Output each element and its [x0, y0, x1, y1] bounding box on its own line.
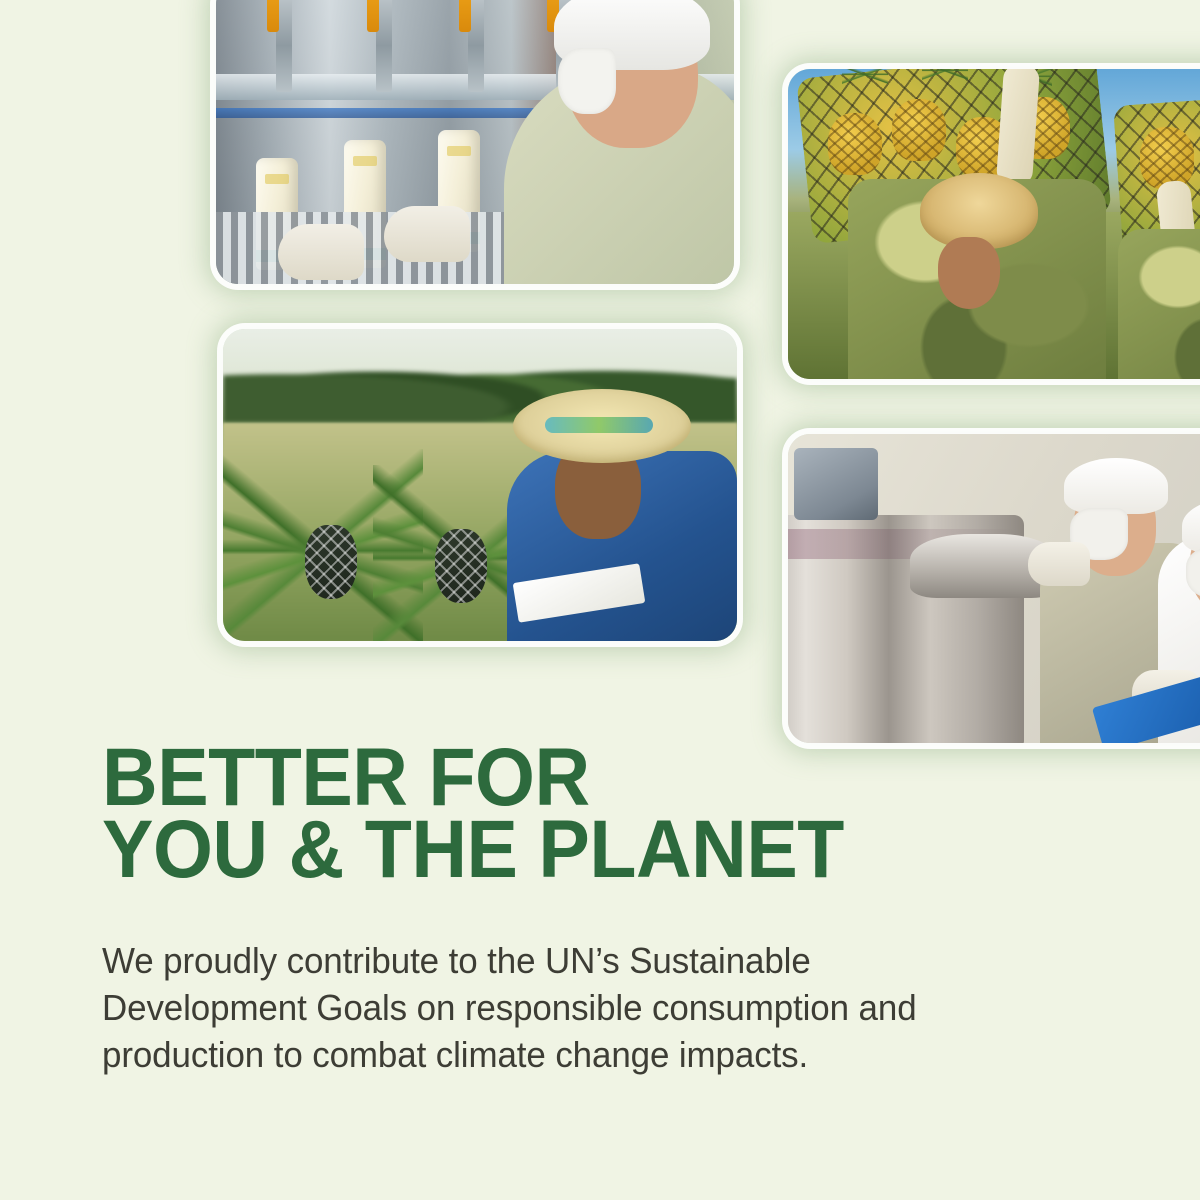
hygiene-cap: [1182, 498, 1200, 554]
worker-glove: [278, 224, 364, 280]
sustainability-banner: BETTER FOR YOU & THE PLANET We proudly c…: [0, 0, 1200, 1200]
technician-glove: [1028, 542, 1090, 586]
face-mask: [558, 48, 616, 114]
page-subcopy: We proudly contribute to the UN’s Sustai…: [102, 886, 1009, 1078]
filler-nozzle: [468, 0, 484, 92]
pineapple-fruit: [892, 99, 946, 161]
pineapple-fruit: [435, 529, 487, 603]
pineapple-fruit: [305, 525, 357, 599]
pineapple-crown: [842, 69, 888, 91]
filler-nozzle: [376, 0, 392, 92]
tank-mixer-motor: [794, 448, 878, 520]
photo-card-pineapple-harvest: [788, 69, 1200, 379]
pineapple-fruit: [1140, 127, 1194, 189]
quality-control-illustration: [788, 434, 1200, 743]
worker-face: [938, 237, 1000, 309]
pineapple-crown: [922, 69, 968, 87]
page-title: BETTER FOR YOU & THE PLANET: [102, 742, 1004, 886]
pineapple-fruit: [828, 113, 882, 175]
filler-nozzle: [276, 0, 292, 92]
pineapple-harvest-illustration: [788, 69, 1200, 379]
text-block: BETTER FOR YOU & THE PLANET We proudly c…: [102, 742, 1062, 1079]
photo-card-farmer-field: [223, 329, 737, 641]
photo-card-quality-control: [788, 434, 1200, 743]
hygiene-cap: [1064, 458, 1168, 514]
straw-hat: [513, 389, 691, 463]
farmer-field-illustration: [223, 329, 737, 641]
bottling-line-illustration: [216, 0, 734, 284]
worker-camo-jacket: [1118, 229, 1200, 379]
photo-card-bottling-line: [216, 0, 734, 284]
worker-glove: [384, 206, 470, 262]
